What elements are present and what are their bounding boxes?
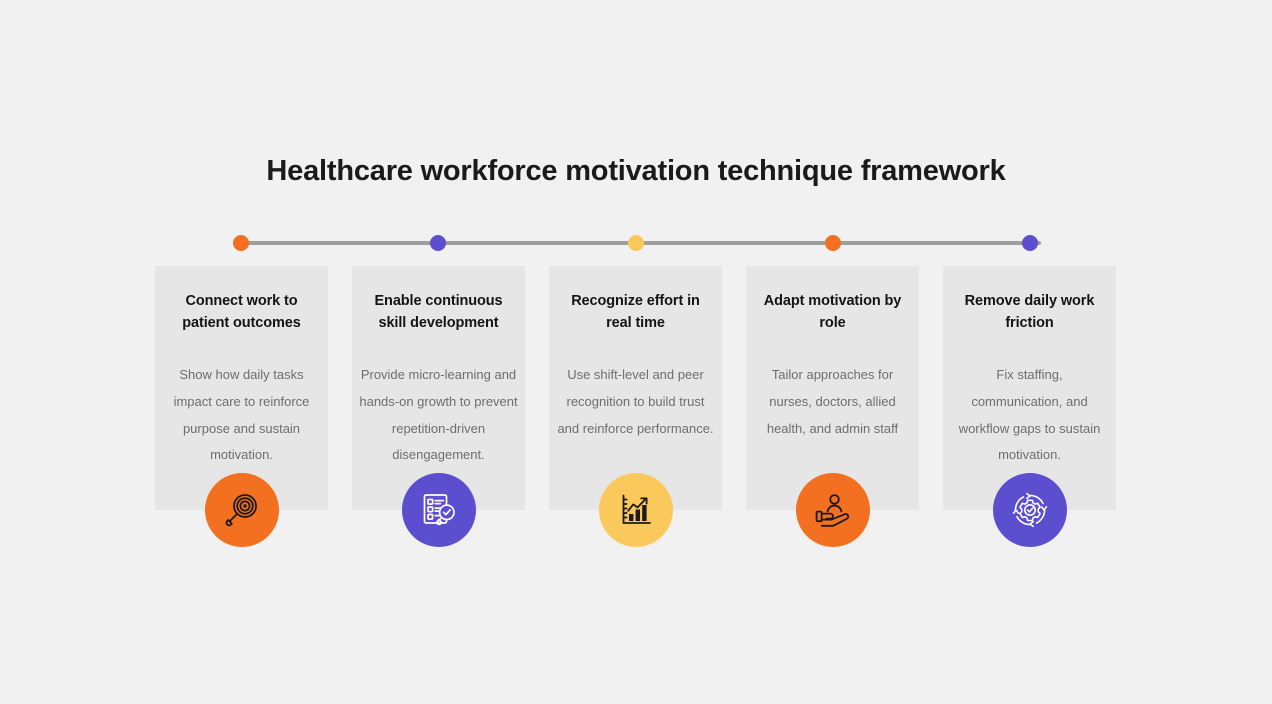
card-4-title: Adapt motivation by role — [756, 290, 909, 334]
card-3-title: Recognize effort in real time — [559, 290, 712, 334]
card-2[interactable]: Enable continuous skill development Prov… — [352, 266, 525, 510]
card-3[interactable]: Recognize effort in real time Use shift-… — [549, 266, 722, 510]
card-5[interactable]: Remove daily work friction Fix staffing,… — [943, 266, 1116, 510]
growth-chart-icon — [599, 473, 673, 547]
card-2-title: Enable continuous skill development — [362, 290, 515, 334]
checklist-magnifier-icon — [402, 473, 476, 547]
hand-person-icon — [796, 473, 870, 547]
timeline-dot-3 — [628, 235, 644, 251]
card-2-body: Provide micro-learning and hands-on grow… — [359, 362, 518, 469]
card-4-body: Tailor approaches for nurses, doctors, a… — [753, 362, 912, 442]
timeline-dot-1 — [233, 235, 249, 251]
card-4[interactable]: Adapt motivation by role Tailor approach… — [746, 266, 919, 510]
card-1-body: Show how daily tasks impact care to rein… — [162, 362, 321, 469]
page-title: Healthcare workforce motivation techniqu… — [0, 152, 1272, 190]
card-3-body: Use shift-level and peer recognition to … — [556, 362, 715, 442]
gear-check-refresh-icon — [993, 473, 1067, 547]
card-row: Connect work to patient outcomes Show ho… — [155, 266, 1117, 551]
infographic-canvas: Healthcare workforce motivation techniqu… — [0, 0, 1272, 704]
card-1[interactable]: Connect work to patient outcomes Show ho… — [155, 266, 328, 510]
timeline-dot-4 — [825, 235, 841, 251]
card-5-body: Fix staffing, communication, and workflo… — [950, 362, 1109, 469]
timeline-dot-5 — [1022, 235, 1038, 251]
timeline — [241, 241, 1041, 245]
card-1-title: Connect work to patient outcomes — [165, 290, 318, 334]
card-5-title: Remove daily work friction — [953, 290, 1106, 334]
timeline-dot-2 — [430, 235, 446, 251]
target-magnifier-icon — [205, 473, 279, 547]
